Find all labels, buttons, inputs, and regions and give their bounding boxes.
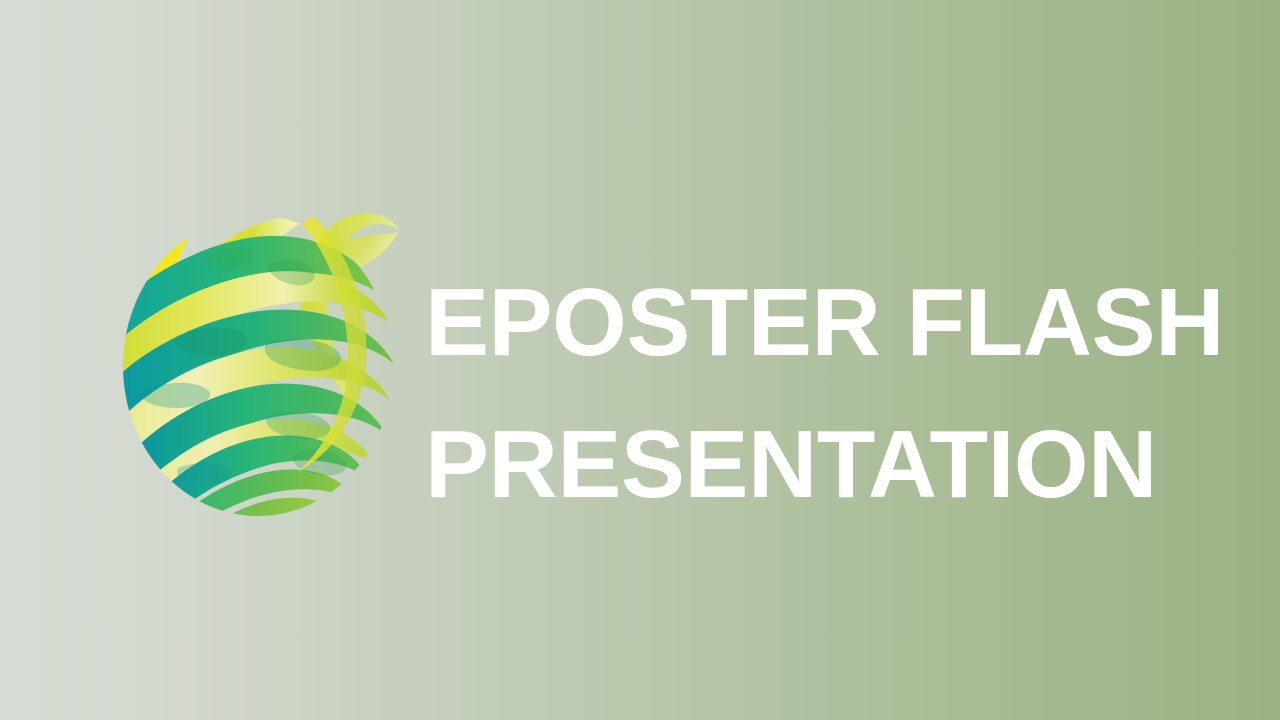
globe-ribbon-group	[110, 213, 399, 546]
title-line-1: EPOSTER FLASH	[425, 252, 1225, 394]
spiral-ribbon-globe-logo	[118, 198, 404, 524]
title-line-2: PRESENTATION	[425, 394, 1225, 536]
title-slide: EPOSTER FLASH PRESENTATION	[0, 0, 1280, 720]
page-title: EPOSTER FLASH PRESENTATION	[425, 252, 1225, 536]
